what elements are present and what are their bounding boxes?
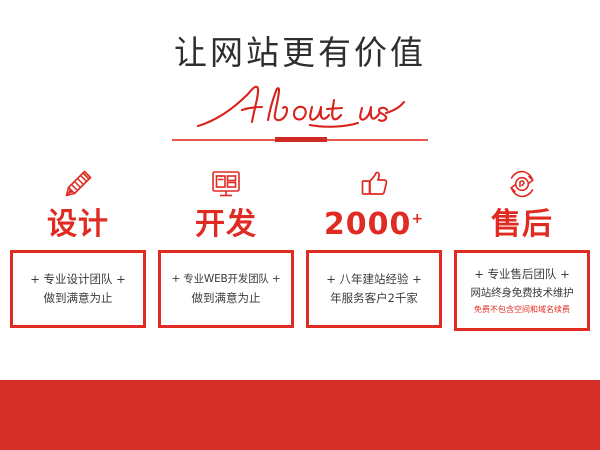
feature-info-box: + 专业售后团队 + 网站终身免费技术维护 免费不包含空间和域名续费 xyxy=(454,250,590,331)
divider-thick-segment xyxy=(275,137,327,142)
feature-title-text: 2000 xyxy=(324,207,412,242)
feature-info-box: + 专业WEB开发团队 + 做到满意为止 xyxy=(158,250,294,328)
feature-info-box: + 专业设计团队 + 做到满意为止 xyxy=(10,250,146,328)
script-subtitle xyxy=(0,80,600,130)
feature-title: 2000+ xyxy=(324,208,424,242)
feature-line: 年服务客户2千家 xyxy=(330,289,418,308)
feature-note: 免费不包含空间和域名续费 xyxy=(474,303,570,316)
feature-line: 做到满意为止 xyxy=(192,289,261,308)
pencil-icon xyxy=(61,162,95,206)
feature-title-text: 售后 xyxy=(491,207,553,242)
feature-line: 做到满意为止 xyxy=(44,289,113,308)
feature-column-design[interactable]: 设计 + 专业设计团队 + 做到满意为止 xyxy=(10,162,146,331)
thumbs-up-icon xyxy=(357,162,391,206)
monitor-code-icon xyxy=(209,162,243,206)
feature-info-box: + 八年建站经验 + 年服务客户2千家 xyxy=(306,250,442,328)
feature-title: 开发 xyxy=(195,208,257,242)
header: 让网站更有价值 xyxy=(0,32,600,144)
feature-title-text: 设计 xyxy=(47,207,109,242)
feature-column-development[interactable]: 开发 + 专业WEB开发团队 + 做到满意为止 xyxy=(158,162,294,331)
about-us-script-icon xyxy=(190,80,410,130)
support-refresh-icon xyxy=(505,162,539,206)
feature-line: + 专业WEB开发团队 + xyxy=(172,270,281,289)
feature-title-superscript: + xyxy=(411,211,424,227)
footer-band xyxy=(0,380,600,450)
title-divider xyxy=(172,136,428,144)
feature-columns: 设计 + 专业设计团队 + 做到满意为止 xyxy=(0,162,600,331)
feature-column-aftersales[interactable]: 售后 + 专业售后团队 + 网站终身免费技术维护 免费不包含空间和域名续费 xyxy=(454,162,590,331)
about-us-banner: 让网站更有价值 xyxy=(0,0,600,450)
feature-line: + 专业售后团队 + xyxy=(474,265,570,284)
feature-title: 售后 xyxy=(491,208,553,242)
feature-line: 网站终身免费技术维护 xyxy=(471,284,574,303)
feature-title: 设计 xyxy=(47,208,109,242)
feature-line: + 八年建站经验 + xyxy=(326,270,422,289)
feature-line: + 专业设计团队 + xyxy=(30,270,126,289)
feature-column-experience[interactable]: 2000+ + 八年建站经验 + 年服务客户2千家 xyxy=(306,162,442,331)
feature-title-text: 开发 xyxy=(195,207,257,242)
page-title: 让网站更有价值 xyxy=(0,32,600,74)
